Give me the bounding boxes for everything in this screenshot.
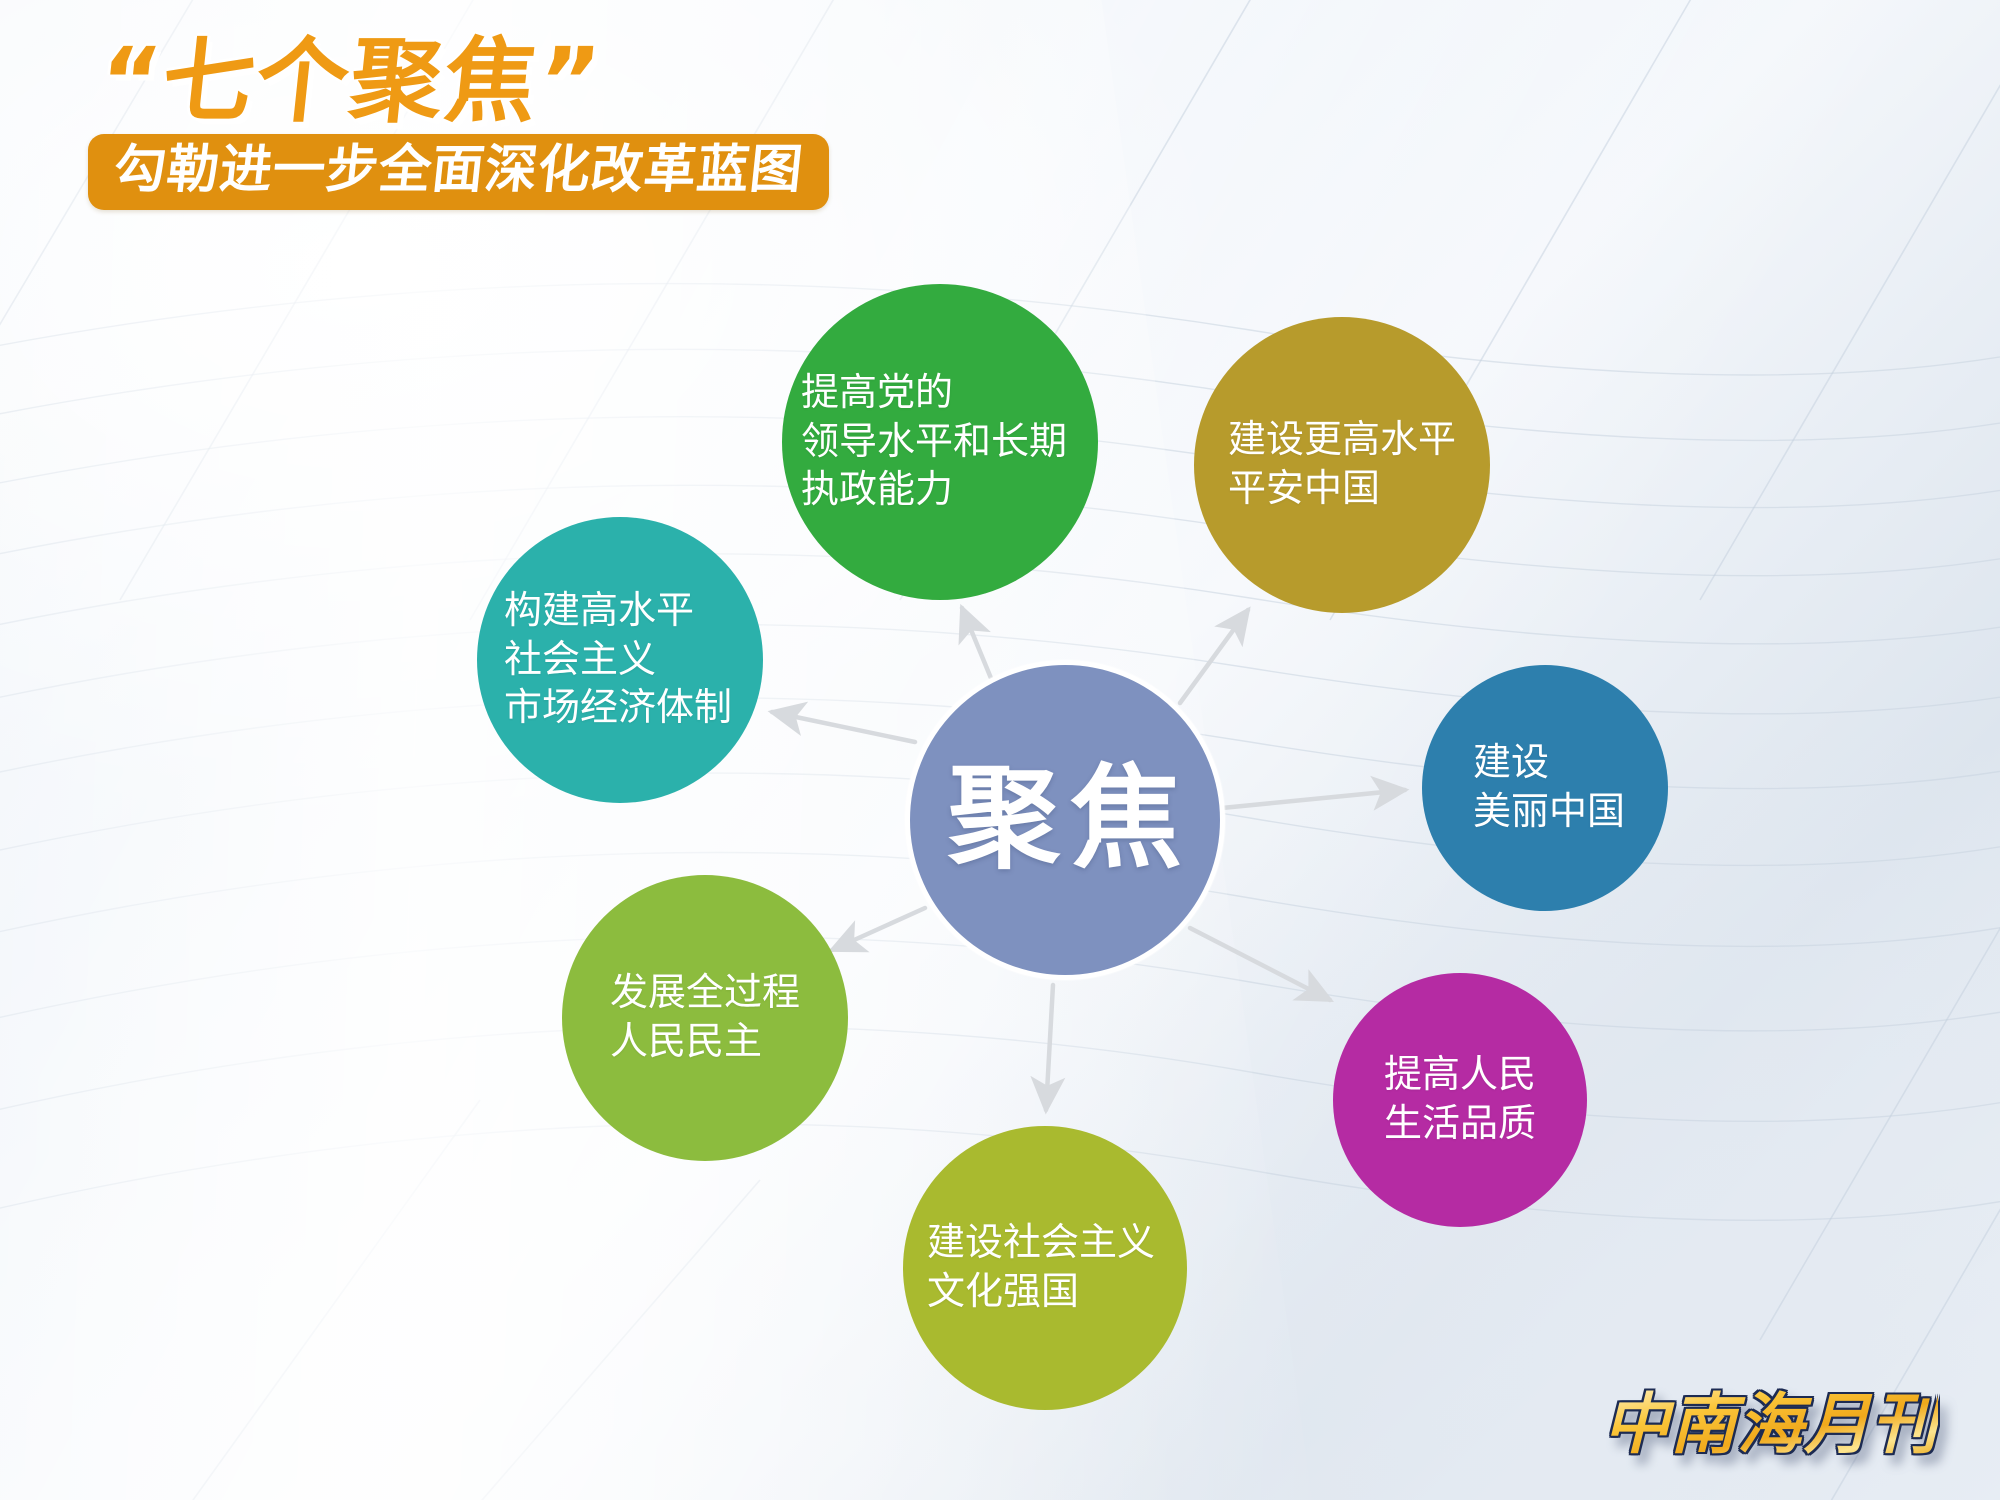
center-node-focus[interactable]: 聚焦	[905, 660, 1225, 980]
node-label-life-quality: 提高人民 生活品质	[1384, 1051, 1536, 1148]
node-label-party-leadership: 提高党的 领导水平和长期 执政能力	[801, 369, 1067, 515]
node-whole-process-democracy[interactable]: 发展全过程 人民民主	[562, 875, 848, 1161]
arrow-to-cultural-power	[1046, 985, 1053, 1110]
subtitle-text: 勾勒进一步全面深化改革蓝图	[111, 144, 805, 196]
node-cultural-power[interactable]: 建设社会主义 文化强国	[903, 1126, 1187, 1410]
page-title: “七个聚焦”	[91, 36, 834, 128]
node-label-whole-process-democracy: 发展全过程 人民民主	[610, 969, 800, 1066]
node-life-quality[interactable]: 提高人民 生活品质	[1333, 973, 1587, 1227]
node-label-safe-china: 建设更高水平 平安中国	[1228, 416, 1456, 513]
node-party-leadership[interactable]: 提高党的 领导水平和长期 执政能力	[782, 284, 1098, 600]
node-label-cultural-power: 建设社会主义 文化强国	[927, 1219, 1155, 1316]
infographic-canvas: “七个聚焦” 勾勒进一步全面深化改革蓝图 提高党的 领导水平和长期 执政能力建设…	[0, 0, 2000, 1500]
publication-logo-text: 中南海月刊	[1603, 1386, 1938, 1463]
node-beautiful-china[interactable]: 建设 美丽中国	[1422, 665, 1668, 911]
publication-logo: 中南海月刊	[1603, 1392, 1938, 1458]
arrow-to-democracy	[832, 908, 925, 950]
arrow-to-beautiful-china	[1222, 790, 1405, 808]
subtitle-banner: 勾勒进一步全面深化改革蓝图	[88, 134, 829, 210]
arrow-to-market-economy	[772, 712, 915, 742]
arrow-to-life-quality	[1190, 928, 1330, 1000]
title-block: “七个聚焦” 勾勒进一步全面深化改革蓝图	[96, 36, 829, 210]
arrow-to-safe-china	[1180, 610, 1248, 703]
center-node-label: 聚焦	[938, 764, 1192, 876]
node-safe-china[interactable]: 建设更高水平 平安中国	[1194, 317, 1490, 613]
node-market-economy-system[interactable]: 构建高水平 社会主义 市场经济体制	[477, 517, 763, 803]
node-label-beautiful-china: 建设 美丽中国	[1473, 739, 1625, 836]
node-label-market-economy-system: 构建高水平 社会主义 市场经济体制	[504, 587, 732, 733]
